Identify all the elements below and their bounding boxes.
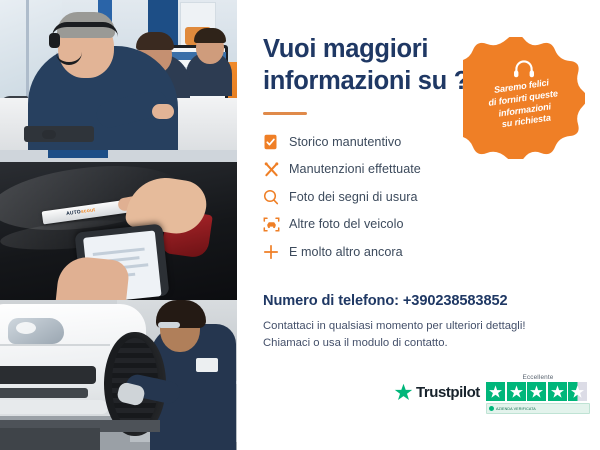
contact-subtext-line-1: Contattaci in qualsiasi momento per ulte…	[263, 318, 553, 335]
magnifier-icon	[263, 189, 289, 205]
agent-hand	[152, 104, 174, 119]
trustpilot-logo: Trustpilot	[394, 383, 480, 402]
car-bumper	[0, 400, 108, 414]
headset-earcup	[49, 33, 60, 48]
list-item-label: Manutenzioni effettuate	[289, 162, 421, 176]
mechanic-glasses	[158, 322, 180, 328]
list-item: Manutenzioni effettuate	[263, 156, 498, 184]
hood-line	[0, 344, 110, 346]
list-item: Foto dei segni di usura	[263, 183, 498, 211]
plus-icon	[263, 244, 289, 260]
list-item-label: Altre foto del veicolo	[289, 217, 404, 231]
wheel-inspection-photo	[0, 300, 237, 450]
second-agent-hair	[136, 32, 174, 50]
headset-band	[52, 22, 118, 37]
verified-company-badge: AZIENDA VERIFICATA	[486, 403, 590, 414]
checklist-icon	[263, 134, 289, 150]
list-item: Altre foto del veicolo	[263, 211, 498, 239]
verified-check-icon	[489, 406, 494, 411]
trustpilot-star-icon	[394, 383, 413, 402]
trustpilot-rating[interactable]: Trustpilot Eccellente	[390, 374, 590, 418]
headline-line-2: informazioni su ?	[263, 65, 473, 97]
contact-subtext-line-2: Chiamaci o usa il modulo di contatto.	[263, 335, 553, 352]
rating-block: Eccellente AZIEND	[486, 374, 590, 414]
promo-banner: AUTOscout	[0, 0, 600, 450]
uniform-patch	[196, 358, 218, 372]
background-strip	[0, 150, 237, 162]
list-item-label: Foto dei segni di usura	[289, 190, 418, 204]
call-center-photo	[0, 0, 237, 150]
star-rating	[486, 382, 590, 401]
star-full	[548, 382, 567, 401]
title-divider	[263, 112, 307, 115]
paint-inspection-photo: AUTOscout	[0, 150, 237, 300]
star-half	[568, 382, 587, 401]
list-item-label: E molto altro ancora	[289, 245, 403, 259]
star-full	[507, 382, 526, 401]
desk-mat	[24, 126, 94, 142]
star-full	[486, 382, 505, 401]
headset-icon	[513, 59, 535, 79]
headline-line-1: Vuoi maggiori	[263, 33, 473, 65]
computer-mouse	[42, 130, 56, 139]
scan-car-icon	[263, 216, 289, 233]
rating-label: Eccellente	[486, 374, 590, 381]
list-item: E molto altro ancora	[263, 238, 498, 266]
info-on-request-badge: Saremo felici di fornirti queste informa…	[463, 37, 585, 159]
trustpilot-wordmark: Trustpilot	[416, 384, 480, 401]
photo-column: AUTOscout	[0, 0, 237, 450]
star-full	[527, 382, 546, 401]
tools-cross-icon	[263, 161, 289, 178]
contact-subtext: Contattaci in qualsiasi momento per ulte…	[263, 318, 553, 352]
third-agent-hair	[194, 28, 226, 43]
car-lift-base	[0, 428, 100, 450]
car-grille	[0, 366, 96, 384]
page-title: Vuoi maggiori informazioni su ?	[263, 33, 473, 97]
list-item-label: Storico manutentivo	[289, 135, 401, 149]
phone-number[interactable]: Numero di telefono: +390238583852	[263, 293, 508, 309]
headlight-glare	[16, 322, 36, 334]
verified-label: AZIENDA VERIFICATA	[496, 407, 536, 411]
car-lower-grille	[0, 388, 88, 398]
